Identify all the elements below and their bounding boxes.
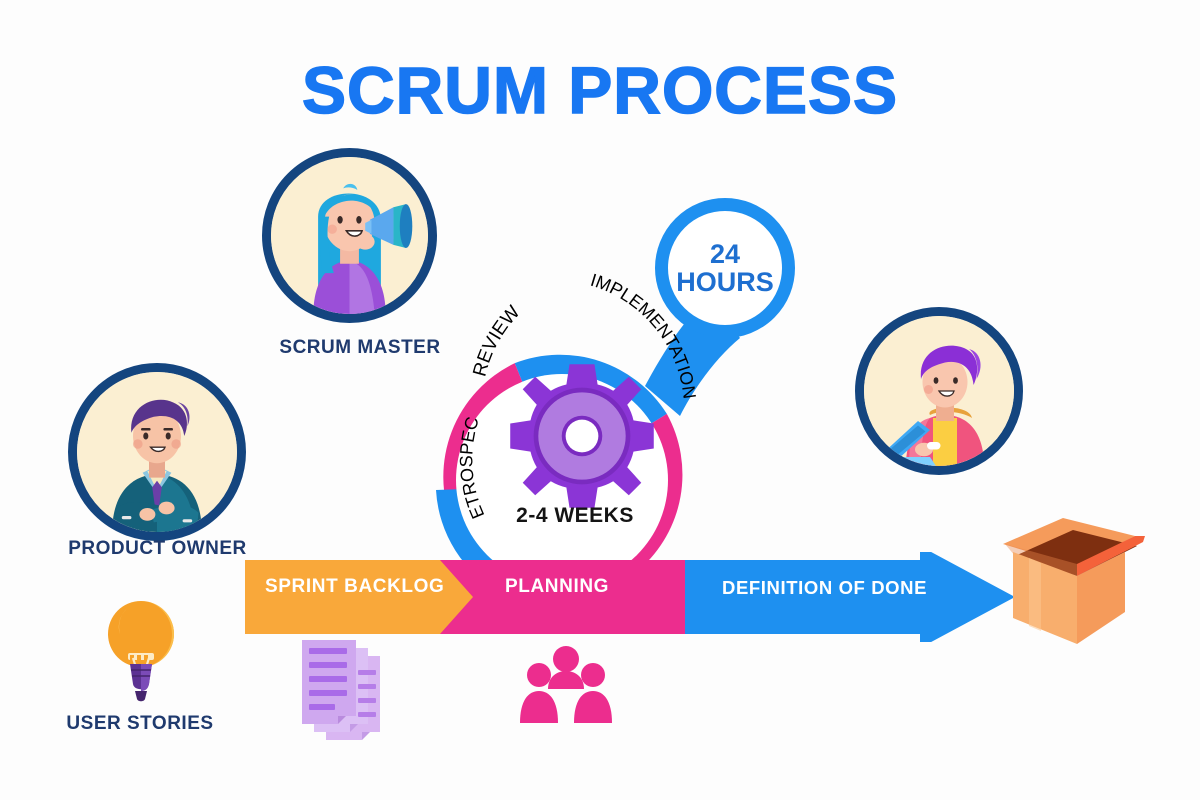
- artifact-label-user-stories: USER STORIES: [40, 713, 240, 735]
- page-title: SCRUM PROCESS: [0, 52, 1200, 128]
- daily-scrum-circle: 24 HOURS: [655, 198, 795, 338]
- gear-icon: [504, 358, 660, 514]
- stacked-documents-icon: [292, 640, 400, 744]
- sprint-duration-label: 2-4 WEEKS: [455, 504, 695, 528]
- avatar-scrum-master: [262, 148, 437, 323]
- people-group-icon: [518, 645, 614, 731]
- daily-scrum-unit: HOURS: [676, 268, 774, 296]
- daily-scrum-number: 24: [710, 240, 740, 268]
- lightbulb-icon: [104, 592, 178, 704]
- avatar-development-team: [855, 307, 1023, 475]
- flow-label-planning: PLANNING: [505, 576, 609, 598]
- woman-with-megaphone-avatar: [271, 157, 428, 314]
- flow-label-sprint-backlog: SPRINT BACKLOG: [265, 576, 444, 598]
- avatar-product-owner: [68, 363, 246, 541]
- flow-label-definition-of-done: DEFINITION OF DONE: [722, 577, 927, 599]
- open-box-icon: [985, 500, 1150, 650]
- role-label-scrum-master: SCRUM MASTER: [230, 337, 490, 359]
- role-label-product-owner: PRODUCT OWNER: [45, 538, 270, 560]
- infographic-canvas: SCRUM PROCESS: [0, 0, 1200, 800]
- man-crossed-arms-avatar: [77, 372, 237, 532]
- person-at-laptop-avatar: [864, 316, 1014, 466]
